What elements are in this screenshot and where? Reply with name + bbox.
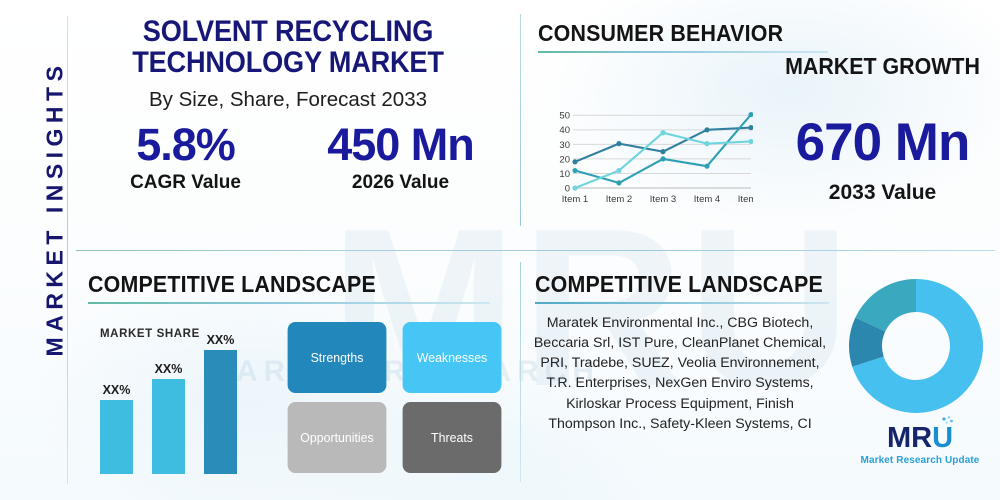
- section-competitive-landscape-right: COMPETITIVE LANDSCAPE: [535, 271, 855, 304]
- mru-logo: MRU Market Research Update: [852, 424, 988, 466]
- stat-2026-label: 2026 Value: [293, 172, 508, 194]
- infographic-canvas: MRU MARKET RESEARCH MARKET INSIGHTS SOLV…: [0, 0, 1000, 500]
- competitive-left-underline: [88, 302, 490, 304]
- swot-cell-opportunities[interactable]: Opportunities: [288, 402, 387, 473]
- donut-chart-svg: [846, 276, 986, 416]
- mru-logo-wordmark: MRU: [887, 424, 953, 453]
- svg-text:10: 10: [559, 169, 570, 180]
- svg-text:Item 4: Item 4: [694, 194, 720, 205]
- consumer-behavior-line-chart: 01020304050 Item 1Item 2Item 3Item 4Item…: [548, 100, 753, 215]
- svg-text:0: 0: [565, 183, 570, 194]
- vertical-divider-top: [520, 14, 521, 226]
- svg-text:30: 30: [559, 140, 570, 151]
- section-consumer-behavior: CONSUMER BEHAVIOR: [538, 20, 838, 53]
- line-chart-x-ticks: Item 1Item 2Item 3Item 4Item 5: [562, 194, 753, 205]
- market-share-bar-label: XX%: [204, 333, 237, 347]
- page-title: SOLVENT RECYCLING TECHNOLOGY MARKET: [95, 16, 481, 79]
- stat-2026: 450 Mn 2026 Value: [293, 122, 508, 194]
- side-label-market-insights: MARKET INSIGHTS: [42, 59, 69, 359]
- line-chart-svg: 01020304050 Item 1Item 2Item 3Item 4Item…: [548, 100, 753, 215]
- competitive-right-heading: COMPETITIVE LANDSCAPE: [535, 271, 833, 298]
- swot-cell-weaknesses[interactable]: Weaknesses: [403, 322, 502, 393]
- svg-text:Item 5: Item 5: [738, 194, 753, 205]
- market-share-bar: XX%: [204, 350, 237, 474]
- market-share-bar-label: XX%: [100, 383, 133, 397]
- svg-text:Item 3: Item 3: [650, 194, 676, 205]
- stat-cagr: 5.8% CAGR Value: [78, 122, 293, 194]
- svg-text:40: 40: [559, 125, 570, 136]
- swot-grid: StrengthsWeaknessesOpportunitiesThreats: [285, 322, 504, 473]
- market-growth-value: 670 Mn: [770, 112, 995, 173]
- svg-text:Item 1: Item 1: [562, 194, 588, 205]
- swot-cell-strengths[interactable]: Strengths: [288, 322, 387, 393]
- horizontal-divider: [76, 250, 995, 251]
- market-growth-label: 2033 Value: [770, 181, 995, 205]
- droplet-sparkle-icon: [938, 415, 956, 433]
- competitive-right-underline: [535, 302, 829, 304]
- stat-cagr-label: CAGR Value: [78, 172, 293, 194]
- stat-2026-value: 450 Mn: [293, 122, 508, 169]
- line-chart-y-ticks: 01020304050: [559, 111, 570, 195]
- competitive-left-heading: COMPETITIVE LANDSCAPE: [88, 271, 460, 298]
- svg-text:50: 50: [559, 111, 570, 122]
- mru-logo-tagline: Market Research Update: [852, 455, 988, 466]
- market-share-bar: XX%: [100, 400, 133, 474]
- market-share-bar: XX%: [152, 379, 185, 474]
- section-competitive-landscape-left: COMPETITIVE LANDSCAPE: [88, 271, 488, 304]
- svg-text:20: 20: [559, 154, 570, 165]
- svg-text:Item 2: Item 2: [606, 194, 632, 205]
- swot-cell-threats[interactable]: Threats: [403, 402, 502, 473]
- stat-cagr-value: 5.8%: [78, 122, 293, 169]
- market-share-donut-chart: [846, 276, 986, 416]
- market-share-bar-label: XX%: [152, 362, 185, 376]
- market-share-bar-rect: [152, 379, 185, 474]
- market-share-title: MARKET SHARE: [100, 328, 200, 340]
- consumer-behavior-heading: CONSUMER BEHAVIOR: [538, 20, 817, 47]
- market-share-bar-rect: [100, 400, 133, 474]
- mru-logo-mr: MR: [887, 422, 932, 454]
- page-subtitle: By Size, Share, Forecast 2033: [78, 88, 498, 112]
- market-growth-heading: MARKET GROWTH: [778, 53, 987, 80]
- company-list: Maratek Environmental Inc., CBG Biotech,…: [533, 313, 827, 434]
- stats-row: 5.8% CAGR Value 450 Mn 2026 Value: [78, 122, 508, 194]
- market-share-bar-chart: XX%XX%XX%: [100, 350, 265, 474]
- line-chart-series: [572, 112, 753, 191]
- market-share-bar-rect: [204, 350, 237, 474]
- vertical-divider-bottom: [520, 262, 521, 482]
